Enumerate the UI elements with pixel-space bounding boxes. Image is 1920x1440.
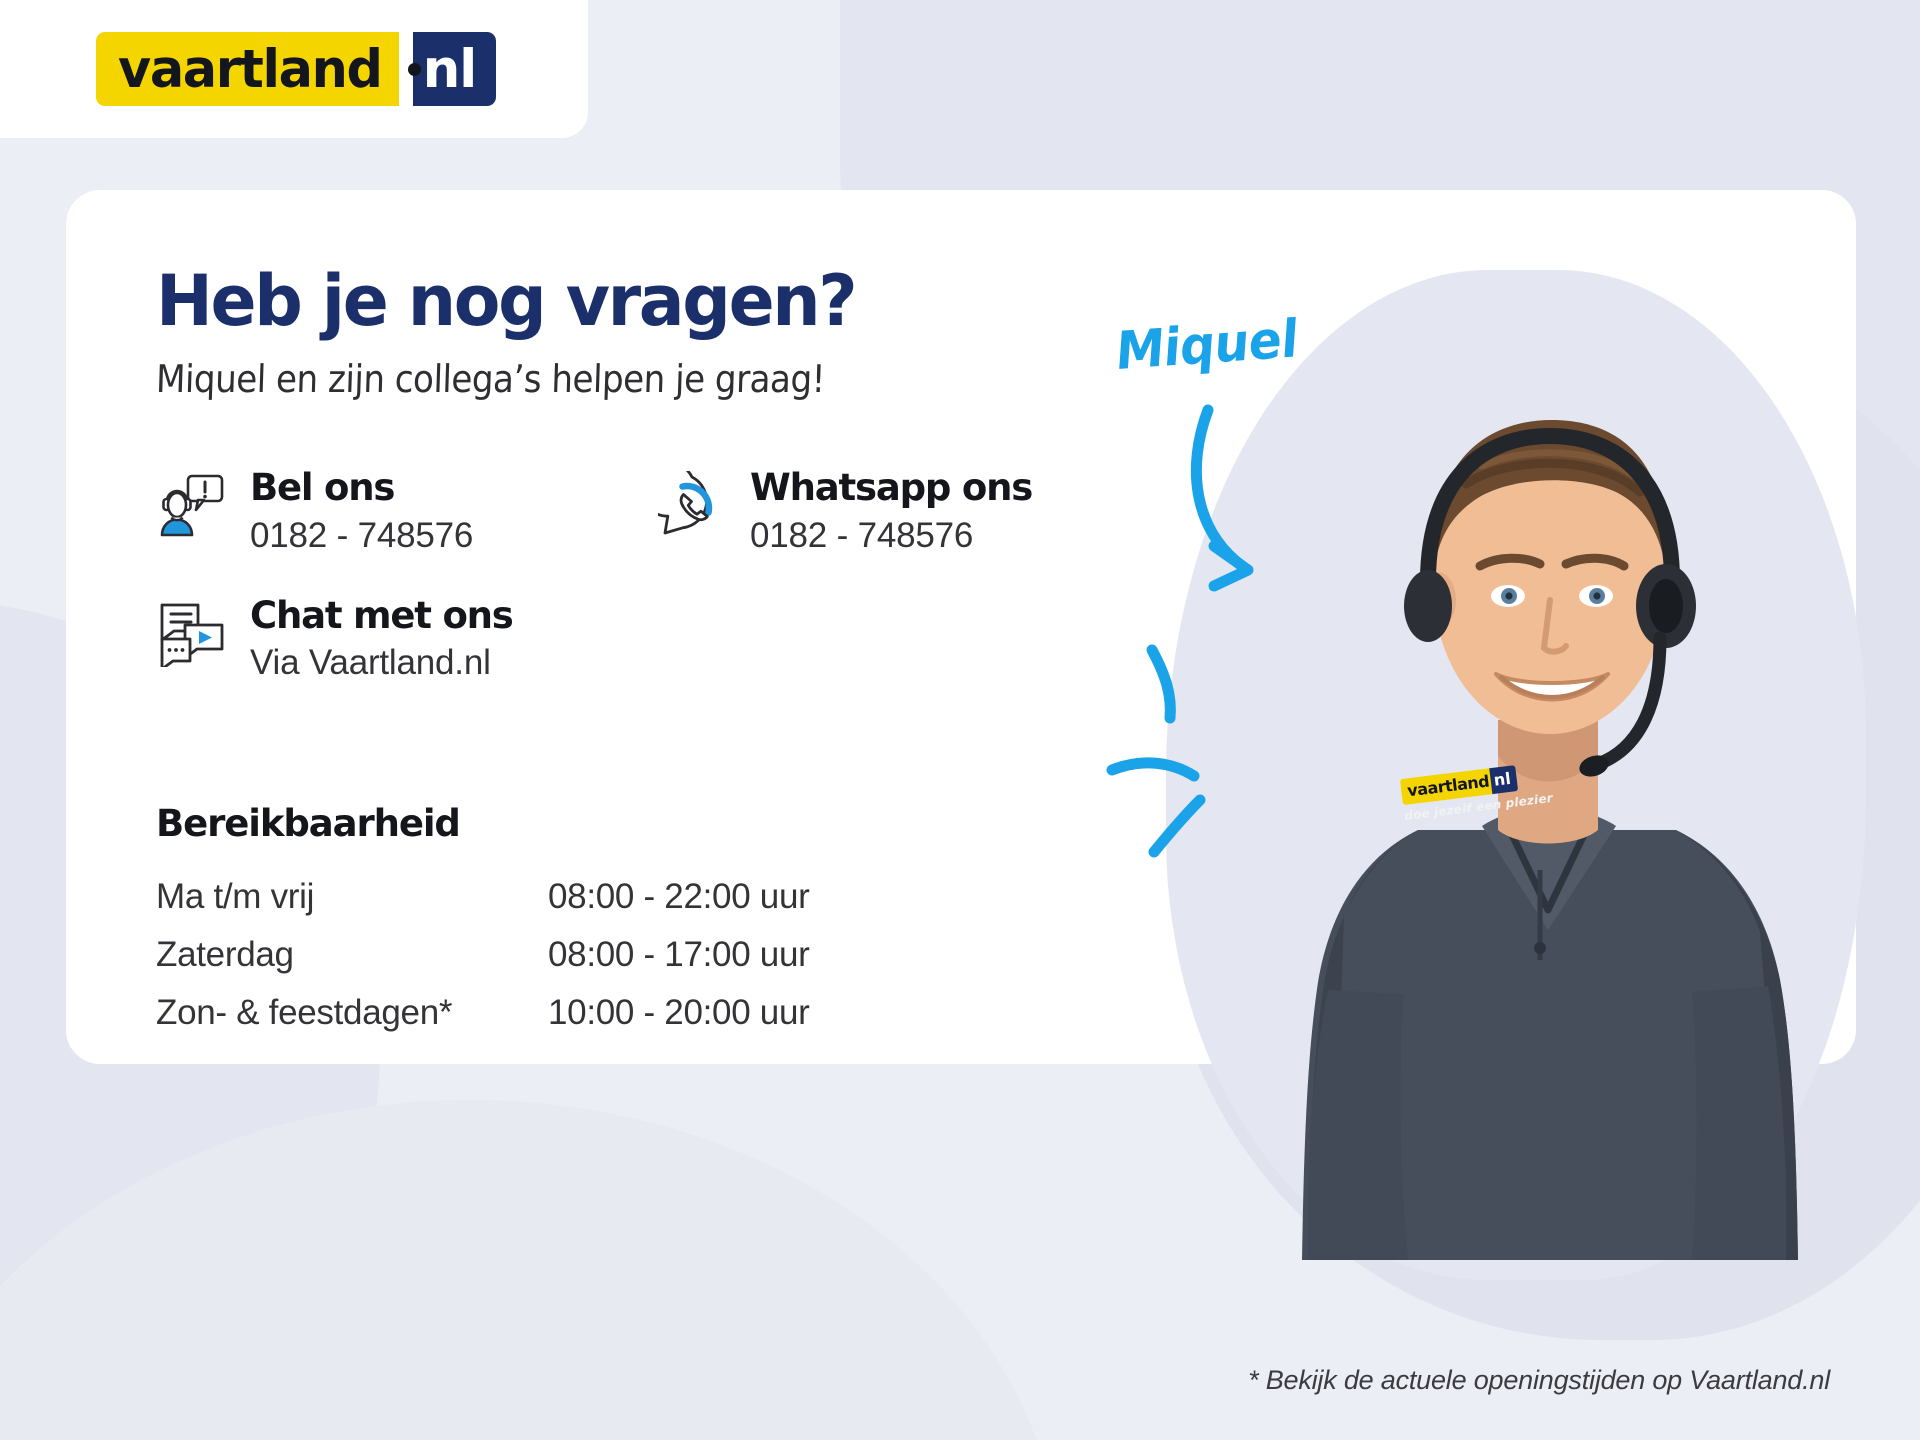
- contact-value: 0182 - 748576: [750, 515, 1032, 557]
- content-card: Heb je nog vragen? Miquel en zijn colleg…: [66, 190, 1856, 1064]
- contact-value: Via Vaartland.nl: [250, 642, 513, 684]
- availability-time: 08:00 - 17:00 uur: [548, 933, 1216, 978]
- promo-banner: vaartland nl Heb je nog vragen? Miquel e…: [0, 0, 1920, 1440]
- contact-title: Bel ons: [250, 467, 473, 508]
- logo-blue-plate: nl: [413, 32, 497, 106]
- availability-day: Zaterdag: [156, 933, 548, 978]
- contact-value: 0182 - 748576: [250, 515, 473, 557]
- logo-wordmark: vaartland: [118, 43, 382, 96]
- contact-method-whatsapp[interactable]: Whatsapp ons 0182 - 748576: [656, 465, 1156, 556]
- brand-logo[interactable]: vaartland nl: [0, 0, 588, 138]
- availability-time: 10:00 - 20:00 uur: [548, 991, 1216, 1036]
- logo-lockup: vaartland nl: [96, 32, 496, 106]
- availability-day: Ma t/m vrij: [156, 875, 548, 920]
- logo-yellow-plate: vaartland: [96, 32, 399, 106]
- availability-time: 08:00 - 22:00 uur: [548, 875, 1216, 920]
- availability-table: Ma t/m vrij 08:00 - 22:00 uur Zaterdag 0…: [156, 875, 1216, 1035]
- chat-bubbles-icon: [156, 597, 228, 669]
- availability-section: Bereikbaarheid Ma t/m vrij 08:00 - 22:00…: [156, 802, 1216, 1035]
- whatsapp-icon: [656, 469, 728, 541]
- content-column: Heb je nog vragen? Miquel en zijn colleg…: [156, 190, 1216, 1064]
- page-subtitle: Miquel en zijn collega’s helpen je graag…: [155, 359, 1110, 401]
- contact-method-chat[interactable]: Chat met ons Via Vaartland.nl: [156, 593, 656, 684]
- headset-agent-icon: [156, 469, 228, 541]
- contact-methods: Bel ons 0182 - 748576 Whatsapp on: [156, 465, 1216, 684]
- availability-day: Zon- & feestdagen*: [156, 991, 548, 1036]
- logo-dot-icon: [408, 63, 421, 76]
- page-title: Heb je nog vragen?: [156, 266, 1184, 337]
- contact-title: Whatsapp ons: [750, 467, 1032, 508]
- availability-heading: Bereikbaarheid: [156, 802, 1216, 845]
- contact-text-whatsapp: Whatsapp ons 0182 - 748576: [750, 465, 1032, 556]
- footnote: * Bekijk de actuele openingstijden op Va…: [1248, 1365, 1830, 1396]
- contact-text-chat: Chat met ons Via Vaartland.nl: [250, 593, 513, 684]
- logo-tld: nl: [423, 43, 477, 96]
- contact-text-call: Bel ons 0182 - 748576: [250, 465, 473, 556]
- contact-method-call[interactable]: Bel ons 0182 - 748576: [156, 465, 656, 556]
- contact-title: Chat met ons: [250, 595, 513, 636]
